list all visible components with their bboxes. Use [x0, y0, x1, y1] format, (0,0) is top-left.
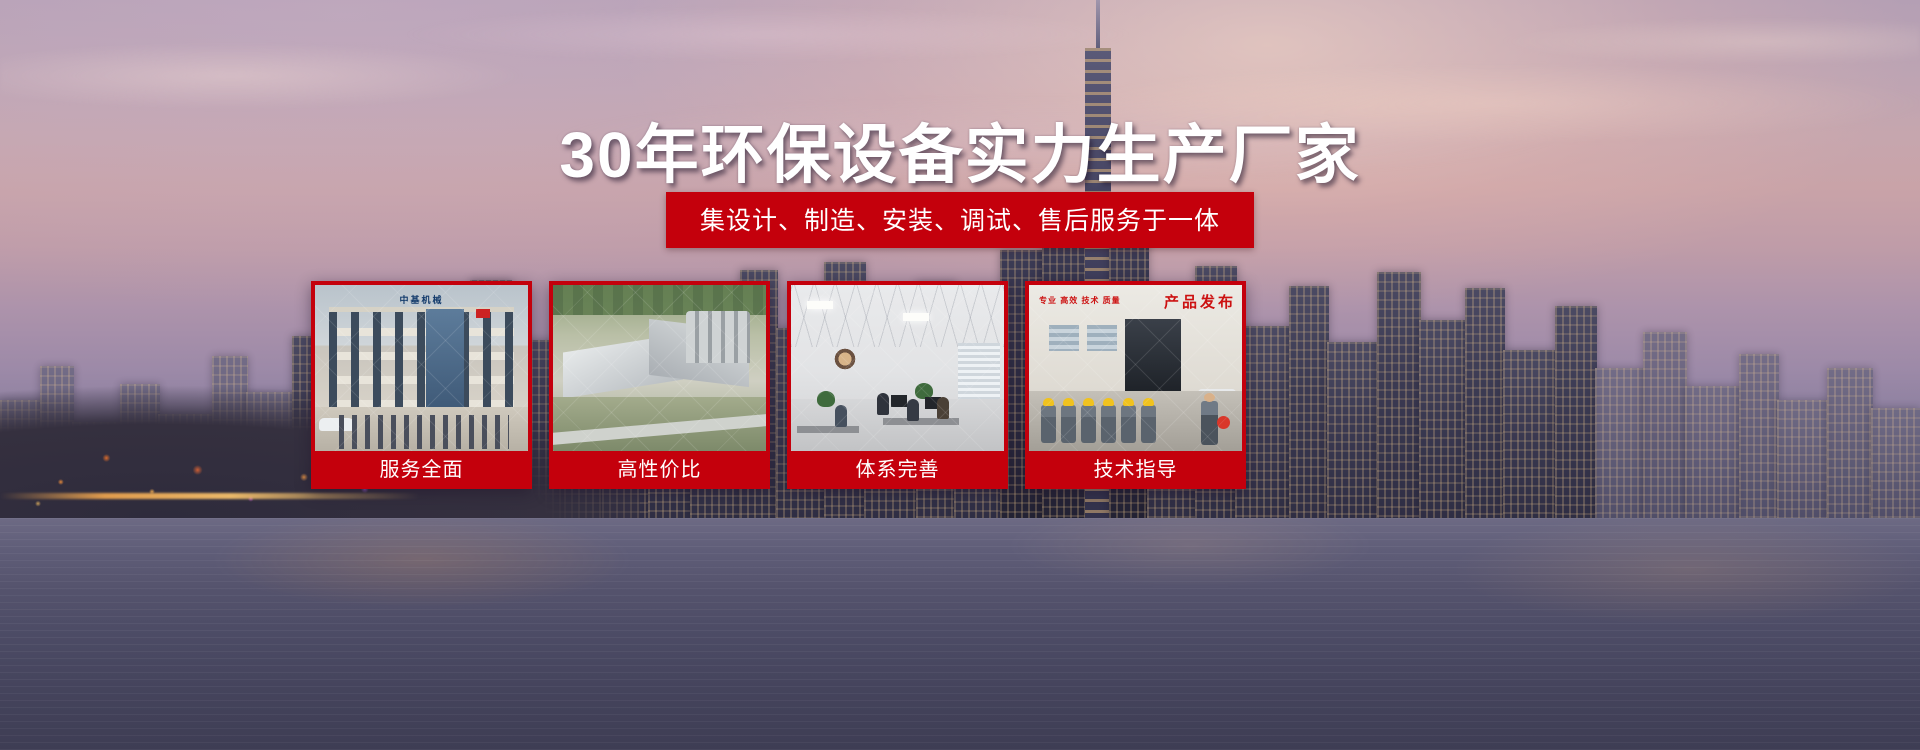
feature-card-service[interactable]: 中基机械 服务全面 — [311, 281, 532, 489]
card-caption: 服务全面 — [315, 451, 528, 489]
subtitle-bar-wrapper: 集设计、制造、安装、调试、售后服务于一体 — [0, 192, 1920, 248]
workshop-photo: 产品发布 专业 高效 技术 质量 — [1029, 285, 1242, 451]
workshop-banner-text: 产品发布 — [1164, 291, 1236, 312]
subtitle-bar: 集设计、制造、安装、调试、售后服务于一体 — [666, 192, 1254, 248]
feature-card-value[interactable]: 高性价比 — [549, 281, 770, 489]
river-water — [0, 518, 1920, 750]
feature-card-system[interactable]: 体系完善 — [787, 281, 1008, 489]
feature-card-list: 中基机械 服务全面 高性价比 — [311, 281, 1246, 489]
lit-bridge — [0, 493, 420, 499]
card-caption: 高性价比 — [553, 451, 766, 489]
feature-card-guidance[interactable]: 产品发布 专业 高效 技术 质量 技术指导 — [1025, 281, 1246, 489]
water-reflections — [0, 518, 1920, 750]
card-caption: 体系完善 — [791, 451, 1004, 489]
aerial-plant-photo — [553, 285, 766, 451]
building-sign: 中基机械 — [399, 293, 443, 306]
workshop-side-text: 专业 高效 技术 质量 — [1039, 295, 1121, 306]
hero-banner: 30年环保设备实力生产厂家 集设计、制造、安装、调试、售后服务于一体 中基机械 … — [0, 0, 1920, 750]
office-interior-photo — [791, 285, 1004, 451]
page-title: 30年环保设备实力生产厂家 — [0, 104, 1920, 196]
headquarters-photo: 中基机械 — [315, 285, 528, 451]
card-caption: 技术指导 — [1029, 451, 1242, 489]
